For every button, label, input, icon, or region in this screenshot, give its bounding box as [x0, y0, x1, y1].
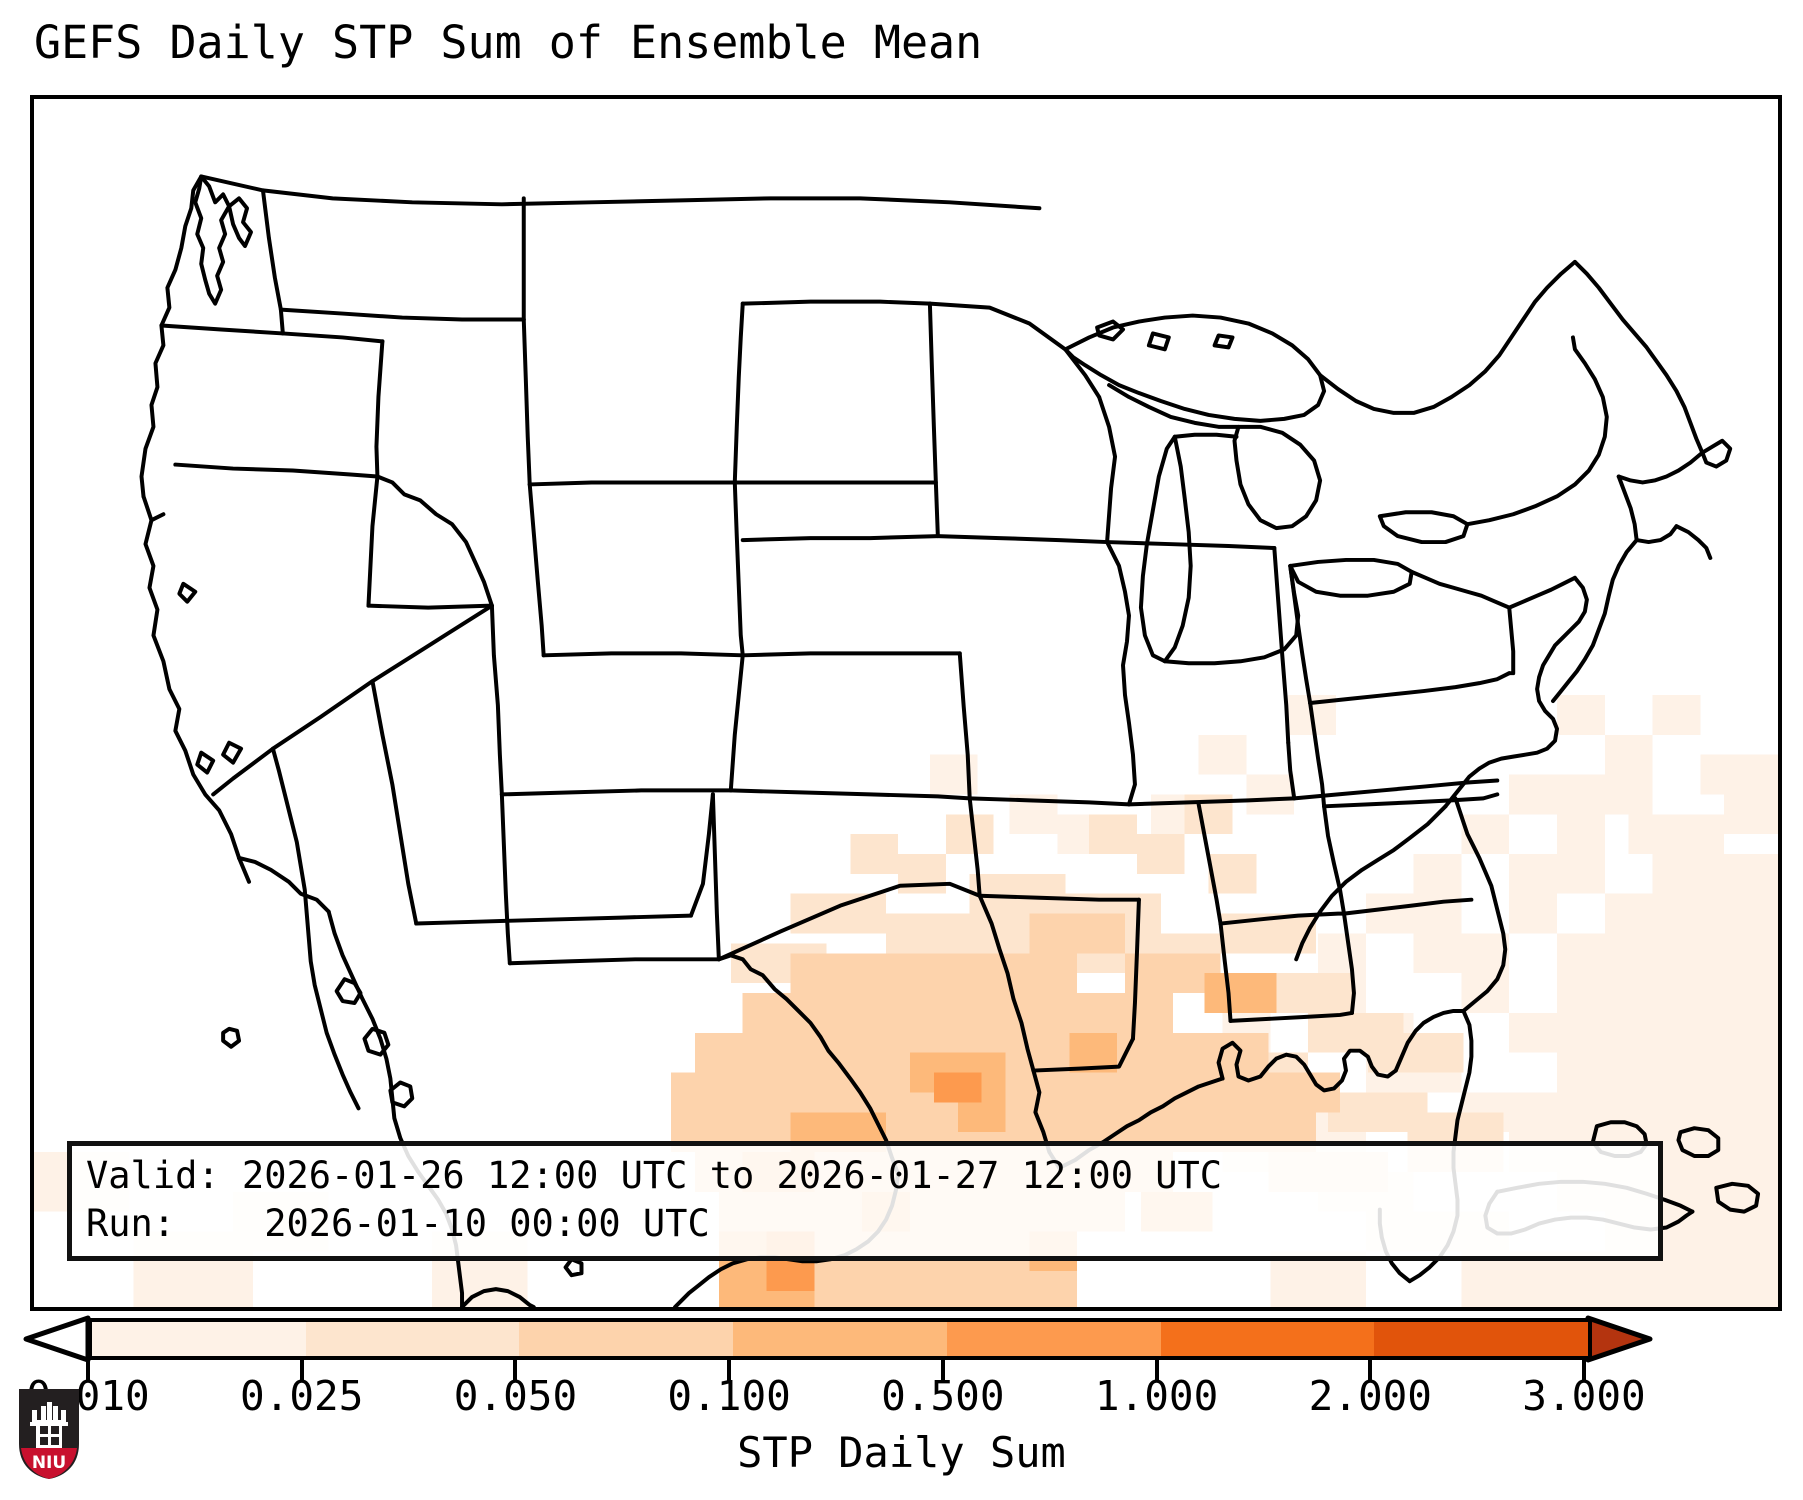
run-time-text: Run: 2026-01-10 00:00 UTC — [86, 1202, 710, 1245]
colorbar-tick-label-5: 1.000 — [1095, 1372, 1218, 1420]
page-title: GEFS Daily STP Sum of Ensemble Mean — [34, 16, 982, 69]
colorbar-tick-label-3: 0.100 — [667, 1372, 790, 1420]
colorbar-tick-labels: 0.0100.0250.0500.1000.5001.0002.0003.000 — [0, 1372, 1803, 1422]
colorbar-tick-label-4: 0.500 — [881, 1372, 1004, 1420]
niu-logo-text: NIU — [32, 1453, 66, 1473]
valid-time-text: Valid: 2026-01-26 12:00 UTC to 2026-01-2… — [86, 1154, 1222, 1197]
map-clip — [34, 99, 1778, 1307]
colorbar[interactable] — [0, 1310, 1803, 1370]
colorbar-tick-label-6: 2.000 — [1309, 1372, 1432, 1420]
colorbar-axis-label: STP Daily Sum — [0, 1428, 1803, 1477]
info-box: Valid: 2026-01-26 12:00 UTC to 2026-01-2… — [67, 1141, 1663, 1261]
niu-logo: NIU — [16, 1386, 82, 1482]
colorbar-tick-label-2: 0.050 — [454, 1372, 577, 1420]
map-geography-layer — [34, 99, 1778, 1307]
colorbar-tick-label-1: 0.025 — [240, 1372, 363, 1420]
map-axes[interactable]: Valid: 2026-01-26 12:00 UTC to 2026-01-2… — [30, 95, 1782, 1311]
colorbar-ticks — [0, 1310, 1803, 1370]
figure-canvas: GEFS Daily STP Sum of Ensemble Mean — [0, 0, 1803, 1500]
colorbar-tick-label-7: 3.000 — [1522, 1372, 1645, 1420]
